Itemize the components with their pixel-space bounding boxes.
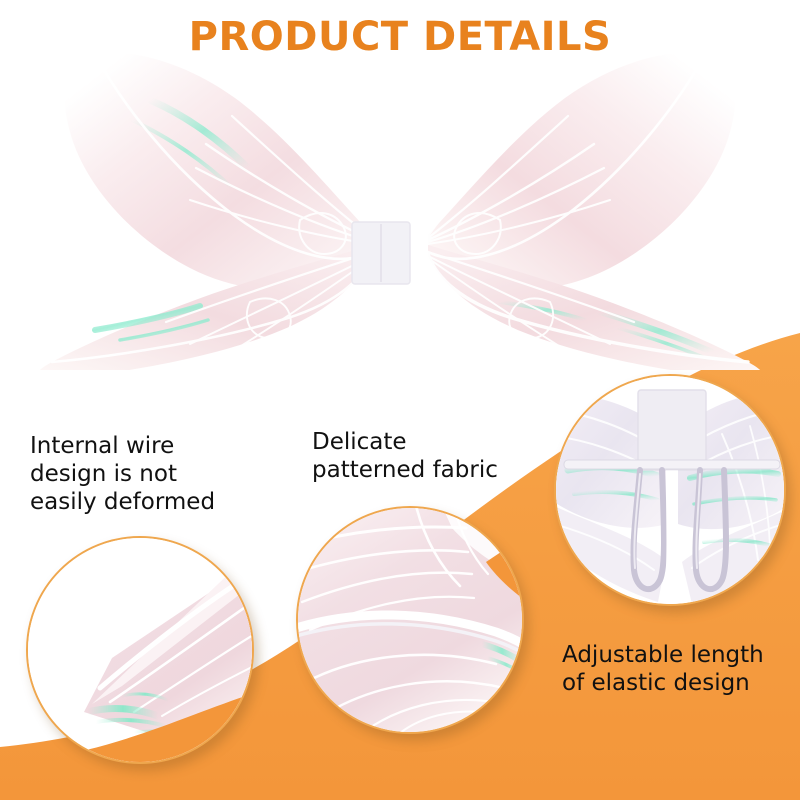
page-title: PRODUCT DETAILS [0,14,800,60]
callout-caption-internal-wire: Internal wire design is not easily defor… [30,432,280,516]
elastic-strap-closeup [554,374,786,606]
hero-product-image [0,40,800,370]
callout-caption-patterned-fabric: Delicate patterned fabric [312,428,558,484]
wing-fabric-pattern-closeup [296,506,524,734]
inset-circle-internal-wire [26,536,254,764]
callout-caption-elastic-straps: Adjustable length of elastic design [562,641,800,697]
inset-circle-patterned-fabric [296,506,524,734]
wing-edge-wire-closeup [26,536,254,764]
product-details-page: PRODUCT DETAILS [0,0,800,800]
inset-circle-elastic-straps [554,374,786,606]
